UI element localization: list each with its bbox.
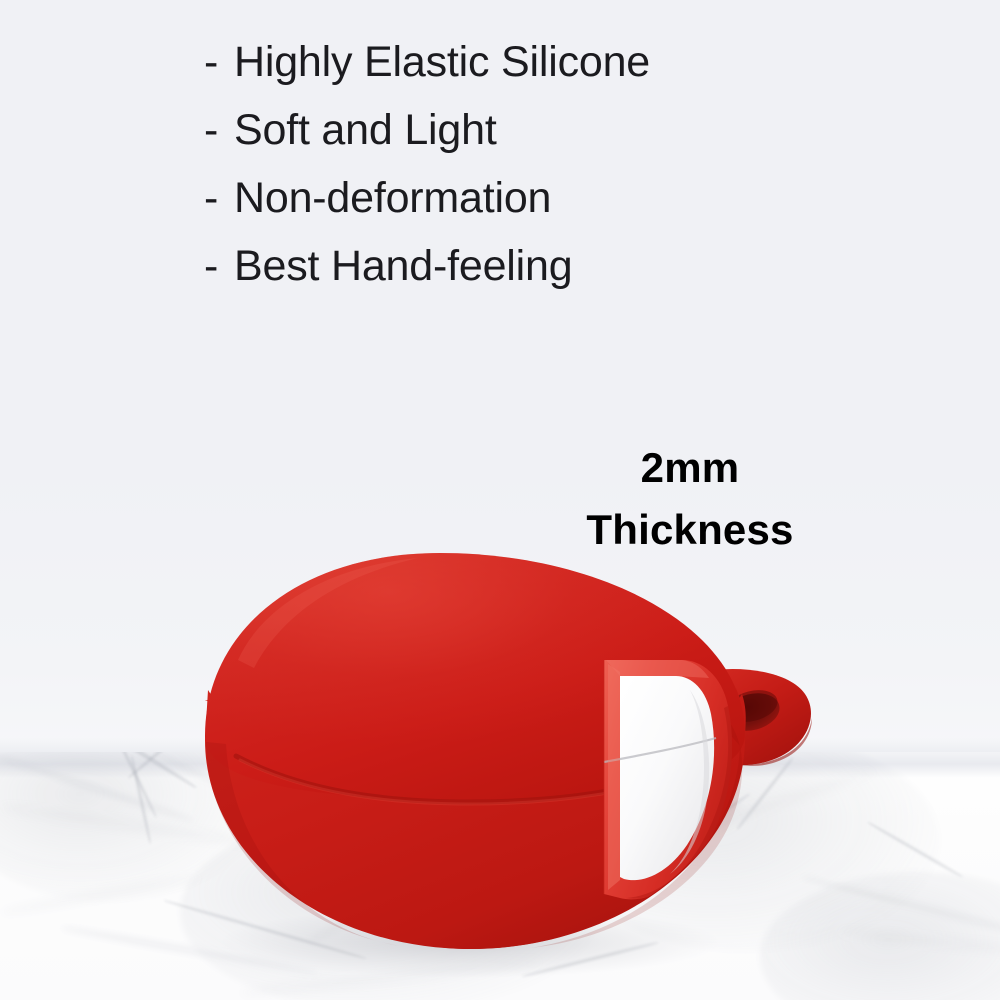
- cross-section: [604, 660, 732, 899]
- product-feature-image: - Highly Elastic Silicone - Soft and Lig…: [0, 0, 1000, 1000]
- product-image: [0, 0, 1000, 1000]
